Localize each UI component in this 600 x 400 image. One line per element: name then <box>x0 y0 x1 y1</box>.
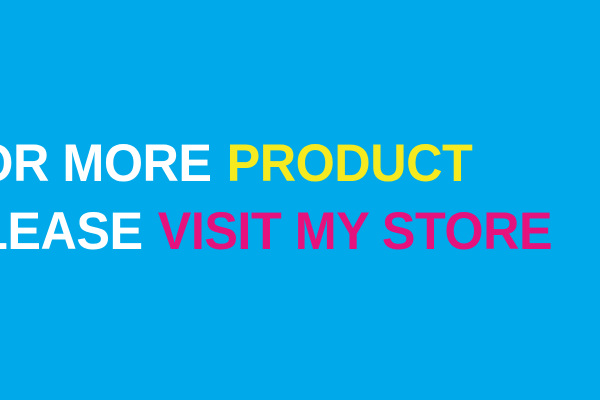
headline-segment-product: PRODUCT <box>227 134 473 193</box>
headline-line-1: FOR MOREPRODUCT <box>0 130 600 198</box>
headline-segment-for-more: FOR MORE <box>0 134 212 193</box>
headline-segment-visit-my-store: VISIT MY STORE <box>158 202 552 261</box>
promo-banner: FOR MOREPRODUCT PLEASEVISIT MY STORE <box>0 0 600 400</box>
headline-segment-please: PLEASE <box>0 202 143 261</box>
headline-block: FOR MOREPRODUCT PLEASEVISIT MY STORE <box>0 130 600 266</box>
headline-line-2: PLEASEVISIT MY STORE <box>0 198 600 266</box>
